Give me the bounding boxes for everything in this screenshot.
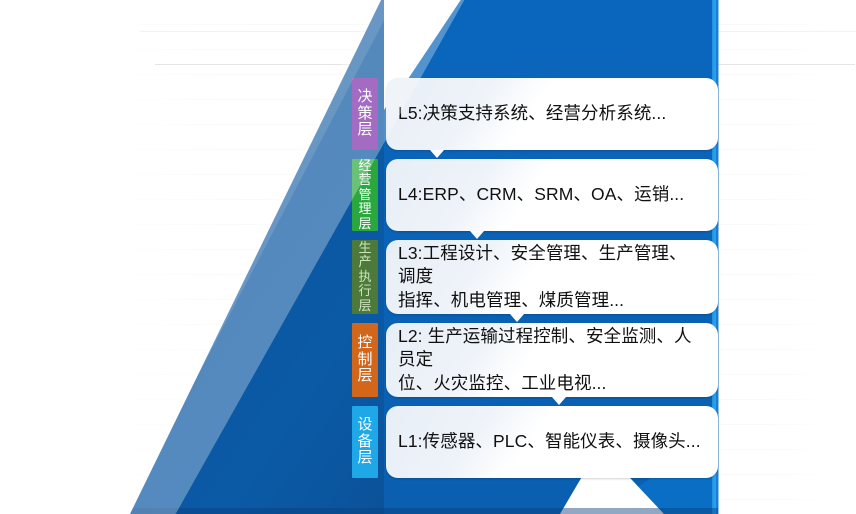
level-card-line: 指挥、机电管理、煤质管理... <box>398 289 704 312</box>
level-row-l4[interactable]: 经 营 管 理 层 L4:ERP、CRM、SRM、OA、运销... <box>352 159 718 231</box>
level-card-line: L3:工程设计、安全管理、生产管理、调度 <box>398 242 704 288</box>
tab-char: 制 <box>357 352 372 369</box>
level-row-l5[interactable]: 决 策 层 L5:决策支持系统、经营分析系统... <box>352 78 718 150</box>
level-card-line: L1:传感器、PLC、智能仪表、摄像头... <box>398 430 701 453</box>
level-row-l2[interactable]: 控 制 层 L2: 生产运输过程控制、安全监测、人员定 位、火灾监控、工业电视.… <box>352 323 718 397</box>
level-tab-l2: 控 制 层 <box>352 323 378 397</box>
level-row-l3[interactable]: 生 产 执 行 层 L3:工程设计、安全管理、生产管理、调度 指挥、机电管理、煤… <box>352 240 718 314</box>
level-card-l5[interactable]: L5:决策支持系统、经营分析系统... <box>386 78 718 150</box>
level-card-l1[interactable]: L1:传感器、PLC、智能仪表、摄像头... <box>386 406 718 478</box>
level-tab-l5: 决 策 层 <box>352 78 378 150</box>
tab-char: 决 <box>357 89 372 106</box>
level-card-l3[interactable]: L3:工程设计、安全管理、生产管理、调度 指挥、机电管理、煤质管理... <box>386 240 718 314</box>
tab-char: 策 <box>357 106 372 123</box>
connector-arrow-l3 <box>510 314 524 322</box>
level-card-text: L1:传感器、PLC、智能仪表、摄像头... <box>398 430 701 453</box>
tab-char: 层 <box>358 299 371 314</box>
level-tab-l1: 设 备 层 <box>352 406 378 478</box>
tab-char: 管 <box>358 188 371 203</box>
level-card-text: L4:ERP、CRM、SRM、OA、运销... <box>398 183 684 206</box>
connector-arrow-l5 <box>430 150 444 158</box>
level-card-line: L4:ERP、CRM、SRM、OA、运销... <box>398 183 684 206</box>
level-card-l4[interactable]: L4:ERP、CRM、SRM、OA、运销... <box>386 159 718 231</box>
level-card-line: 位、火灾监控、工业电视... <box>398 372 704 395</box>
level-card-text: L2: 生产运输过程控制、安全监测、人员定 位、火灾监控、工业电视... <box>398 325 704 394</box>
tab-char: 行 <box>358 284 371 299</box>
level-card-line: L2: 生产运输过程控制、安全监测、人员定 <box>398 325 704 371</box>
tab-char: 层 <box>357 122 372 139</box>
level-card-l2[interactable]: L2: 生产运输过程控制、安全监测、人员定 位、火灾监控、工业电视... <box>386 323 718 397</box>
tab-char: 生 <box>358 241 371 256</box>
tab-char: 层 <box>357 450 372 467</box>
tab-char: 备 <box>357 434 372 451</box>
level-row-l1[interactable]: 设 备 层 L1:传感器、PLC、智能仪表、摄像头... <box>352 406 718 478</box>
tab-char: 营 <box>358 173 371 188</box>
level-card-line: L5:决策支持系统、经营分析系统... <box>398 102 666 125</box>
diagram-canvas: 决 策 层 L5:决策支持系统、经营分析系统... 经 营 管 理 层 L <box>0 0 856 514</box>
tab-char: 层 <box>357 368 372 385</box>
level-tab-l4: 经 营 管 理 层 <box>352 159 378 231</box>
level-card-text: L3:工程设计、安全管理、生产管理、调度 指挥、机电管理、煤质管理... <box>398 242 704 311</box>
connector-arrow-l4 <box>470 231 484 239</box>
tab-char: 执 <box>358 270 371 285</box>
level-tab-l3: 生 产 执 行 层 <box>352 240 378 314</box>
tab-char: 产 <box>358 255 371 270</box>
level-stack: 决 策 层 L5:决策支持系统、经营分析系统... 经 营 管 理 层 L <box>352 78 718 478</box>
tab-char: 设 <box>357 417 372 434</box>
tab-char: 层 <box>358 217 371 232</box>
tab-char: 控 <box>357 335 372 352</box>
tab-char: 理 <box>358 202 371 217</box>
tab-char: 经 <box>358 159 371 174</box>
level-card-text: L5:决策支持系统、经营分析系统... <box>398 102 666 125</box>
connector-arrow-l2 <box>552 397 566 405</box>
